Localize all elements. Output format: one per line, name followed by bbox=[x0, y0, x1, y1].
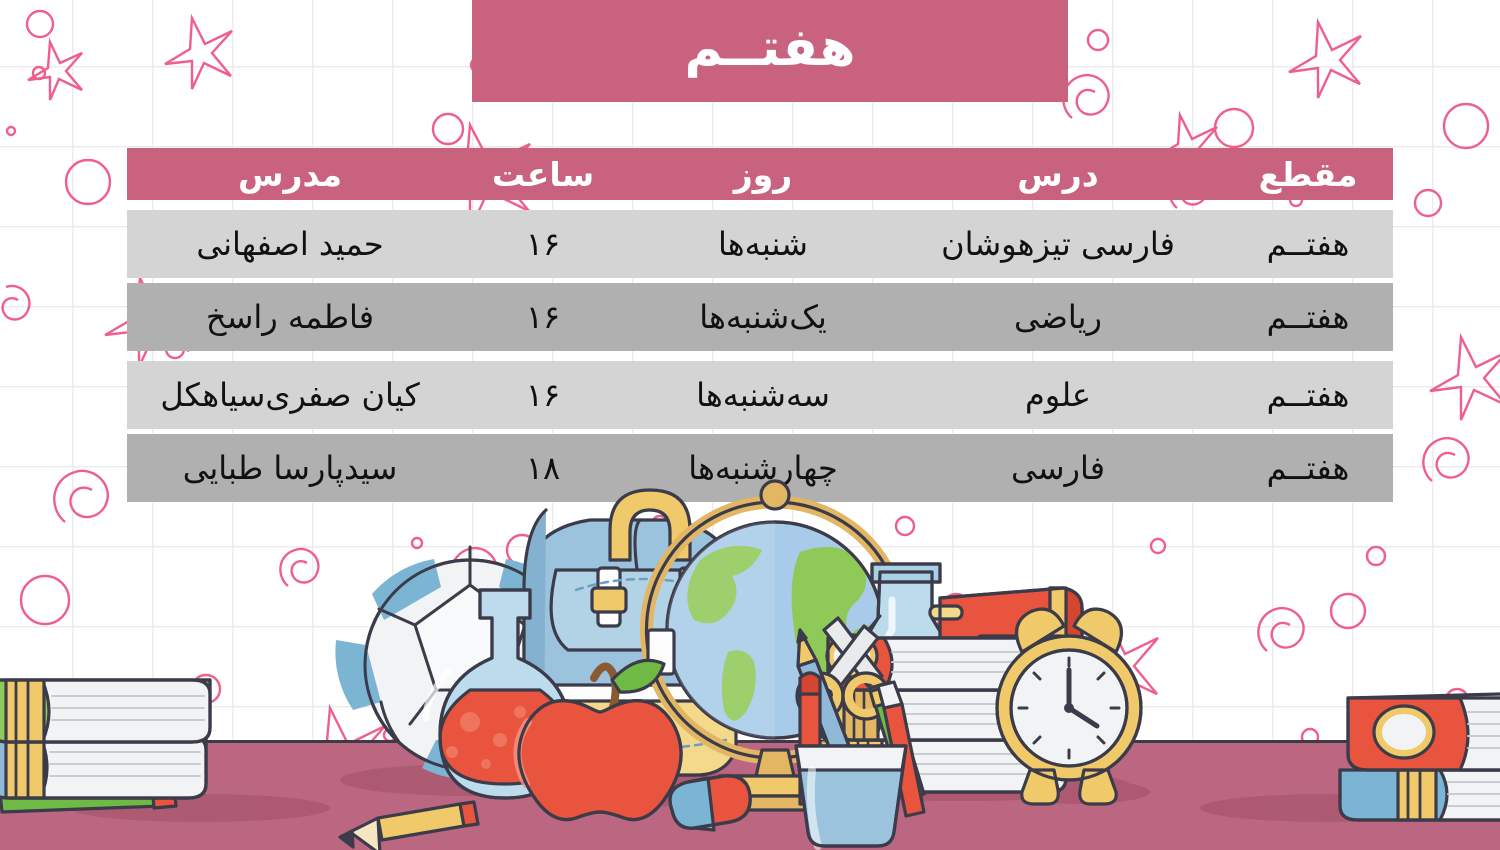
cell-teacher: حمید اصفهانی bbox=[127, 210, 453, 278]
books-right bbox=[1340, 694, 1500, 820]
cell-level: هفتــم bbox=[1223, 210, 1393, 278]
school-supplies-illustration bbox=[0, 440, 1500, 850]
cell-day: سه‌شنبه‌ها bbox=[633, 361, 893, 429]
cell-teacher: کیان صفری‌سیاهکل bbox=[127, 361, 453, 429]
header-teacher: مدرس bbox=[127, 148, 453, 200]
cell-hour: ۱۶ bbox=[453, 283, 633, 351]
cell-hour: ۱۶ bbox=[453, 361, 633, 429]
books-left bbox=[0, 680, 210, 812]
header-day: روز bbox=[633, 148, 893, 200]
cell-hour: ۱۶ bbox=[453, 210, 633, 278]
pencil-loose bbox=[340, 802, 478, 850]
cell-subject: فارسی تیزهوشان bbox=[893, 210, 1223, 278]
cell-level: هفتــم bbox=[1223, 361, 1393, 429]
eraser bbox=[670, 776, 750, 830]
table-row[interactable]: هفتــم فارسی تیزهوشان شنبه‌ها ۱۶ حمید اص… bbox=[127, 210, 1393, 278]
header-level: مقطع bbox=[1223, 148, 1393, 200]
table-header-row: مقطع درس روز ساعت مدرس bbox=[127, 148, 1393, 200]
slide-title-banner: هفتــم bbox=[472, 0, 1068, 102]
page-title: هفتــم bbox=[684, 22, 855, 80]
cell-teacher: فاطمه راسخ bbox=[127, 283, 453, 351]
slide-canvas: هفتــم مقطع درس روز ساعت مدرس هفتــم فار… bbox=[0, 0, 1500, 850]
cell-day: شنبه‌ها bbox=[633, 210, 893, 278]
cell-level: هفتــم bbox=[1223, 283, 1393, 351]
header-hour: ساعت bbox=[453, 148, 633, 200]
cell-subject: ریاضی bbox=[893, 283, 1223, 351]
table-row[interactable]: هفتــم علوم سه‌شنبه‌ها ۱۶ کیان صفری‌سیاه… bbox=[127, 361, 1393, 429]
header-subject: درس bbox=[893, 148, 1223, 200]
cell-subject: علوم bbox=[893, 361, 1223, 429]
cell-day: یک‌شنبه‌ها bbox=[633, 283, 893, 351]
table-row[interactable]: هفتــم ریاضی یک‌شنبه‌ها ۱۶ فاطمه راسخ bbox=[127, 283, 1393, 351]
